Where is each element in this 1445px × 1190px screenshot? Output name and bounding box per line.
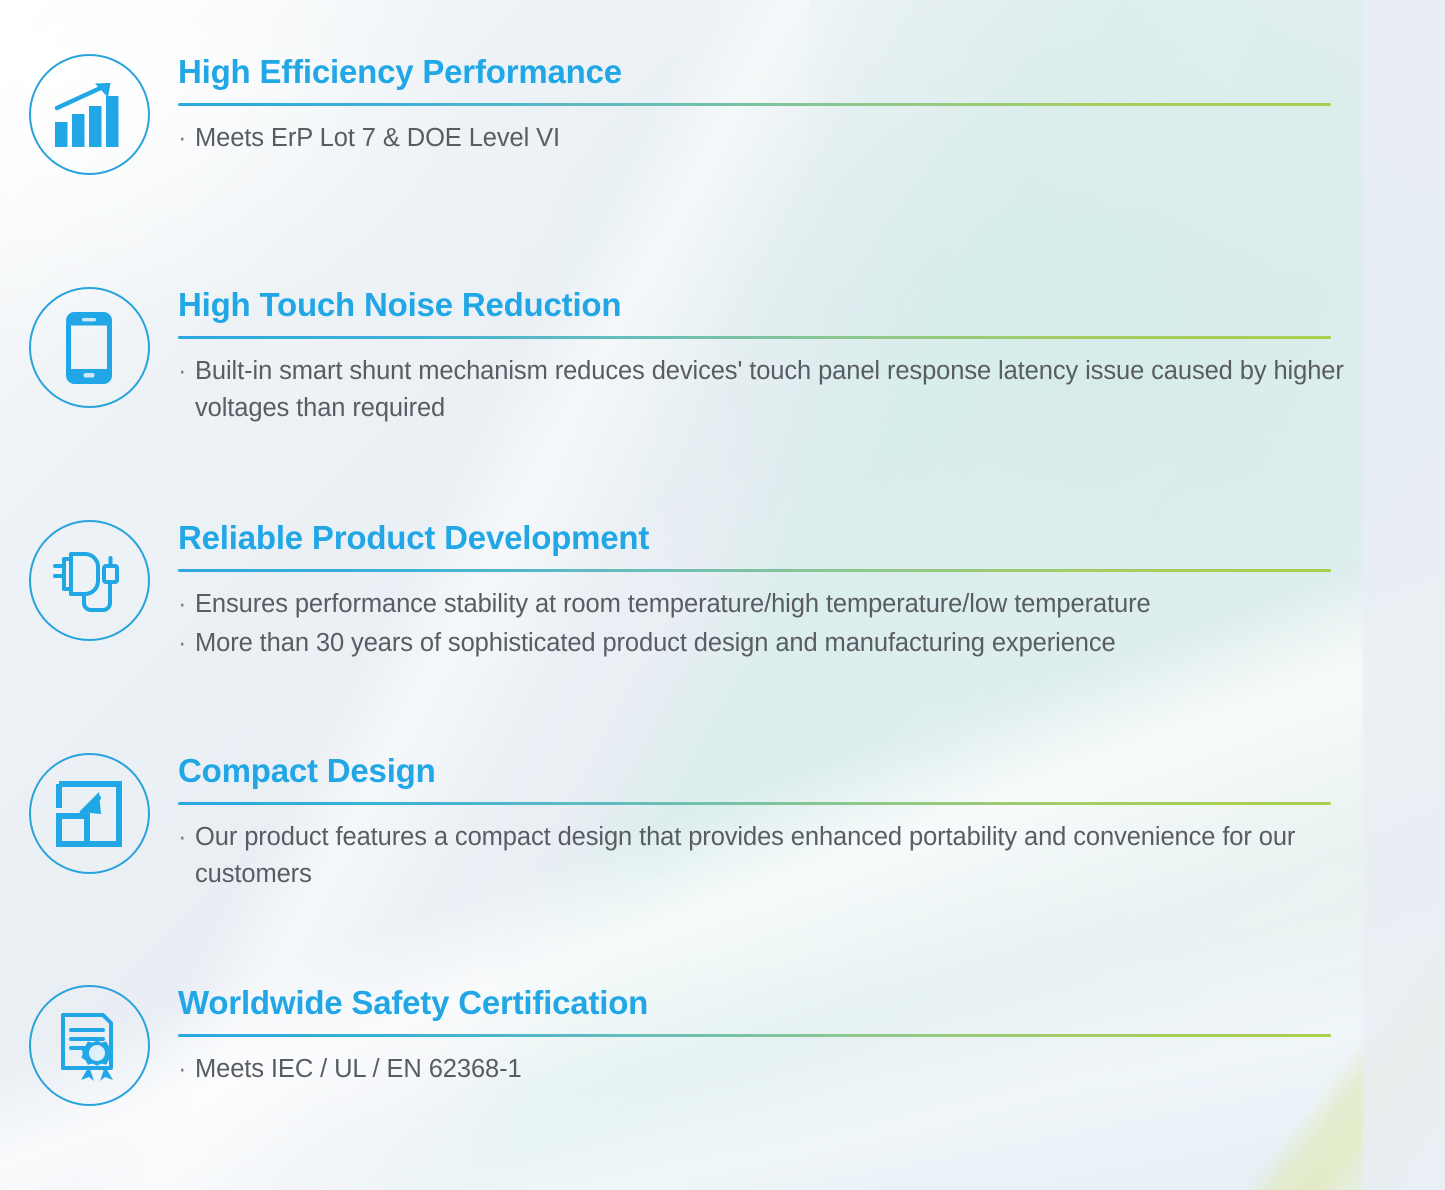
feature-bullets: · Meets IEC / UL / EN 62368-1 (178, 1051, 1365, 1088)
feature-bullets: · Built-in smart shunt mechanism reduces… (178, 353, 1365, 427)
feature-bullets: · Our product features a compact design … (178, 819, 1365, 893)
feature-icon-container (0, 277, 178, 408)
smartphone-icon (29, 287, 150, 408)
feature-title: Reliable Product Development (178, 520, 1365, 557)
feature-bullet: · Ensures performance stability at room … (178, 586, 1365, 623)
feature-icon-container (0, 44, 178, 175)
feature-divider (178, 1034, 1331, 1037)
feature-divider (178, 336, 1331, 339)
feature-divider (178, 569, 1331, 572)
feature-bullet: · Meets ErP Lot 7 & DOE Level VI (178, 120, 1365, 157)
feature-title: High Touch Noise Reduction (178, 287, 1365, 324)
feature-item-compact-design: Compact Design · Our product features a … (0, 743, 1445, 975)
bullet-marker-icon: · (178, 120, 195, 157)
feature-icon-container (0, 510, 178, 641)
bullet-marker-icon: · (178, 586, 195, 623)
feature-body: High Touch Noise Reduction · Built-in sm… (178, 277, 1445, 427)
feature-bullet-text: Meets IEC / UL / EN 62368-1 (195, 1051, 1365, 1088)
feature-bullet-text: Our product features a compact design th… (195, 819, 1365, 893)
feature-bullets: · Ensures performance stability at room … (178, 586, 1365, 662)
feature-bullet-text: Ensures performance stability at room te… (195, 586, 1365, 623)
feature-bullet: · Our product features a compact design … (178, 819, 1365, 893)
feature-item-high-touch-noise-reduction: High Touch Noise Reduction · Built-in sm… (0, 277, 1445, 510)
feature-icon-container (0, 975, 178, 1106)
feature-icon-container (0, 743, 178, 874)
feature-item-high-efficiency-performance: High Efficiency Performance · Meets ErP … (0, 44, 1445, 277)
feature-bullets: · Meets ErP Lot 7 & DOE Level VI (178, 120, 1365, 157)
feature-list: High Efficiency Performance · Meets ErP … (0, 0, 1445, 1165)
feature-bullet-text: More than 30 years of sophisticated prod… (195, 625, 1365, 662)
feature-bullet: · Meets IEC / UL / EN 62368-1 (178, 1051, 1365, 1088)
certificate-seal-icon (29, 985, 150, 1106)
bullet-marker-icon: · (178, 1051, 195, 1088)
power-adapter-icon (29, 520, 150, 641)
feature-title: Worldwide Safety Certification (178, 985, 1365, 1022)
feature-bullet: · Built-in smart shunt mechanism reduces… (178, 353, 1365, 427)
feature-body: Worldwide Safety Certification · Meets I… (178, 975, 1445, 1088)
bullet-marker-icon: · (178, 819, 195, 856)
feature-page: High Efficiency Performance · Meets ErP … (0, 0, 1445, 1190)
bullet-marker-icon: · (178, 625, 195, 662)
feature-item-worldwide-safety-certification: Worldwide Safety Certification · Meets I… (0, 975, 1445, 1165)
bar-chart-growth-icon (29, 54, 150, 175)
feature-item-reliable-product-development: Reliable Product Development · Ensures p… (0, 510, 1445, 743)
feature-divider (178, 103, 1331, 106)
bullet-marker-icon: · (178, 353, 195, 390)
feature-title: High Efficiency Performance (178, 54, 1365, 91)
feature-title: Compact Design (178, 753, 1365, 790)
compact-resize-icon (29, 753, 150, 874)
feature-bullet-text: Built-in smart shunt mechanism reduces d… (195, 353, 1365, 427)
feature-bullet-text: Meets ErP Lot 7 & DOE Level VI (195, 120, 1365, 157)
feature-divider (178, 802, 1331, 805)
feature-bullet: · More than 30 years of sophisticated pr… (178, 625, 1365, 662)
feature-body: High Efficiency Performance · Meets ErP … (178, 44, 1445, 157)
feature-body: Reliable Product Development · Ensures p… (178, 510, 1445, 662)
feature-body: Compact Design · Our product features a … (178, 743, 1445, 893)
